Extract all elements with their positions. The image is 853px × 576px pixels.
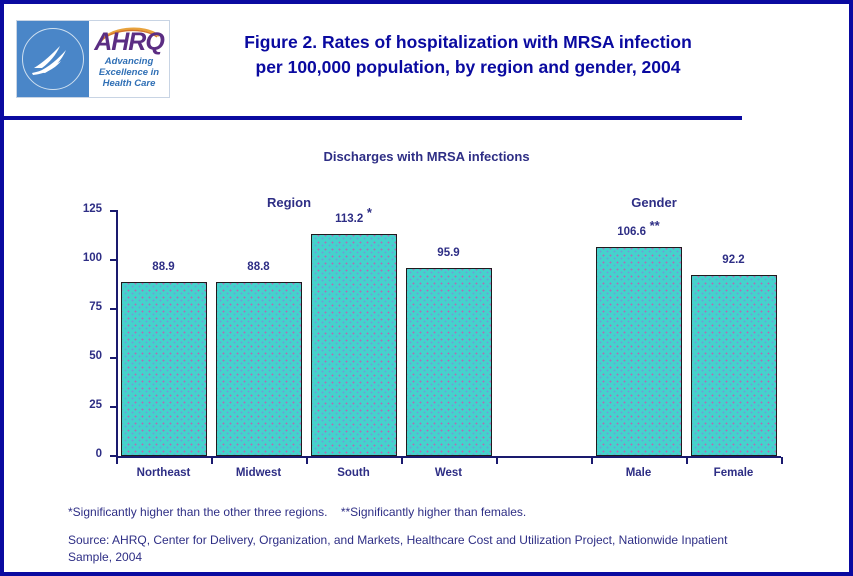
bar: [596, 247, 682, 456]
bar: [311, 234, 397, 456]
y-axis-tick-label: 50: [56, 350, 102, 364]
bar: [406, 268, 492, 456]
footnotes: *Significantly higher than the other thr…: [68, 504, 768, 566]
y-axis-tick-label-text: 0: [56, 448, 102, 460]
x-axis-category-label: West: [389, 467, 509, 479]
x-axis-tick: [591, 457, 593, 464]
x-axis-tick: [496, 457, 498, 464]
y-axis-tick-label: 100: [56, 252, 102, 266]
y-axis-tick-label: 0: [56, 448, 102, 462]
y-axis-line: [116, 210, 118, 458]
x-axis-line: [116, 456, 781, 458]
significance-marker: **: [646, 218, 660, 233]
bar-value-label: 113.2 *: [294, 213, 414, 225]
y-axis-tick: [110, 210, 117, 212]
y-axis-tick-label: 125: [56, 203, 102, 217]
y-axis-tick-label-text: 75: [56, 301, 102, 313]
x-axis-tick: [401, 457, 403, 464]
source-note: Source: AHRQ, Center for Delivery, Organ…: [68, 532, 756, 566]
x-axis-tick: [306, 457, 308, 464]
bar-value-label: 88.8: [199, 261, 319, 273]
y-axis-tick-label-text: 50: [56, 350, 102, 362]
y-axis-tick-label: 75: [56, 301, 102, 315]
x-axis-tick: [781, 457, 783, 464]
x-axis-category-label: Female: [674, 467, 794, 479]
group-label-region: Region: [229, 195, 349, 210]
y-axis-tick-label: 25: [56, 399, 102, 413]
significance-marker: *: [363, 205, 372, 220]
bar: [121, 282, 207, 456]
bar-chart: Region Gender 0255075100125 Northeast88.…: [4, 4, 849, 576]
x-axis-tick: [116, 457, 118, 464]
bar-value-label: 92.2: [674, 254, 794, 266]
bar: [216, 282, 302, 456]
bar-value-label: 106.6 **: [579, 226, 699, 238]
bar: [691, 275, 777, 456]
x-axis-tick: [211, 457, 213, 464]
y-axis-tick: [110, 308, 117, 310]
figure-page: AHRQ Advancing Excellence in Health Care…: [0, 0, 853, 576]
significance-note: *Significantly higher than the other thr…: [68, 504, 768, 520]
bar-value-label: 95.9: [389, 247, 509, 259]
y-axis-tick-label-text: 125: [56, 203, 102, 215]
ahrq-wordmark: AHRQ: [89, 29, 169, 55]
x-axis-tick: [686, 457, 688, 464]
y-axis-tick: [110, 357, 117, 359]
group-label-gender: Gender: [594, 195, 714, 210]
y-axis-tick-label-text: 25: [56, 399, 102, 411]
y-axis-tick-label-text: 100: [56, 252, 102, 264]
y-axis-tick: [110, 406, 117, 408]
